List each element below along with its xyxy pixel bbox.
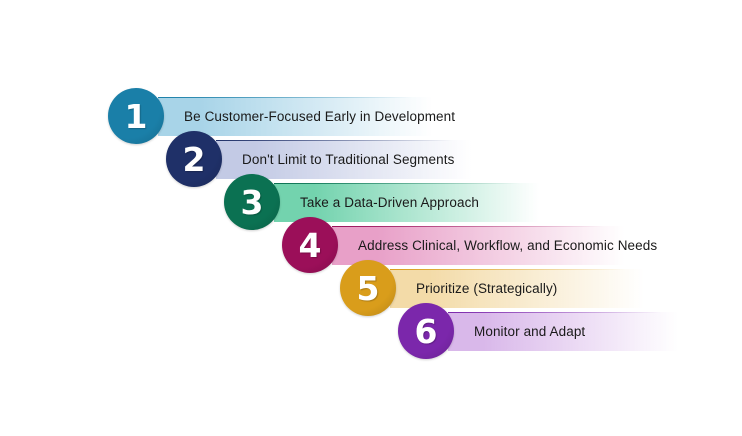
step-6-number: 6 [415,315,438,348]
step-6-label: Monitor and Adapt [474,313,585,351]
step-2-circle: 2 [166,131,222,187]
step-6: Monitor and Adapt6 [398,303,698,359]
step-1-circle: 1 [108,88,164,144]
step-4-number: 4 [299,229,322,262]
step-6-circle: 6 [398,303,454,359]
step-4-circle: 4 [282,217,338,273]
step-6-bar: Monitor and Adapt [448,312,698,351]
infographic-canvas: Be Customer-Focused Early in Development… [0,0,742,436]
step-5-number: 5 [357,272,380,305]
step-3-circle: 3 [224,174,280,230]
step-2-number: 2 [183,143,206,176]
step-5-circle: 5 [340,260,396,316]
step-1-number: 1 [125,100,148,133]
step-3-number: 3 [241,186,264,219]
